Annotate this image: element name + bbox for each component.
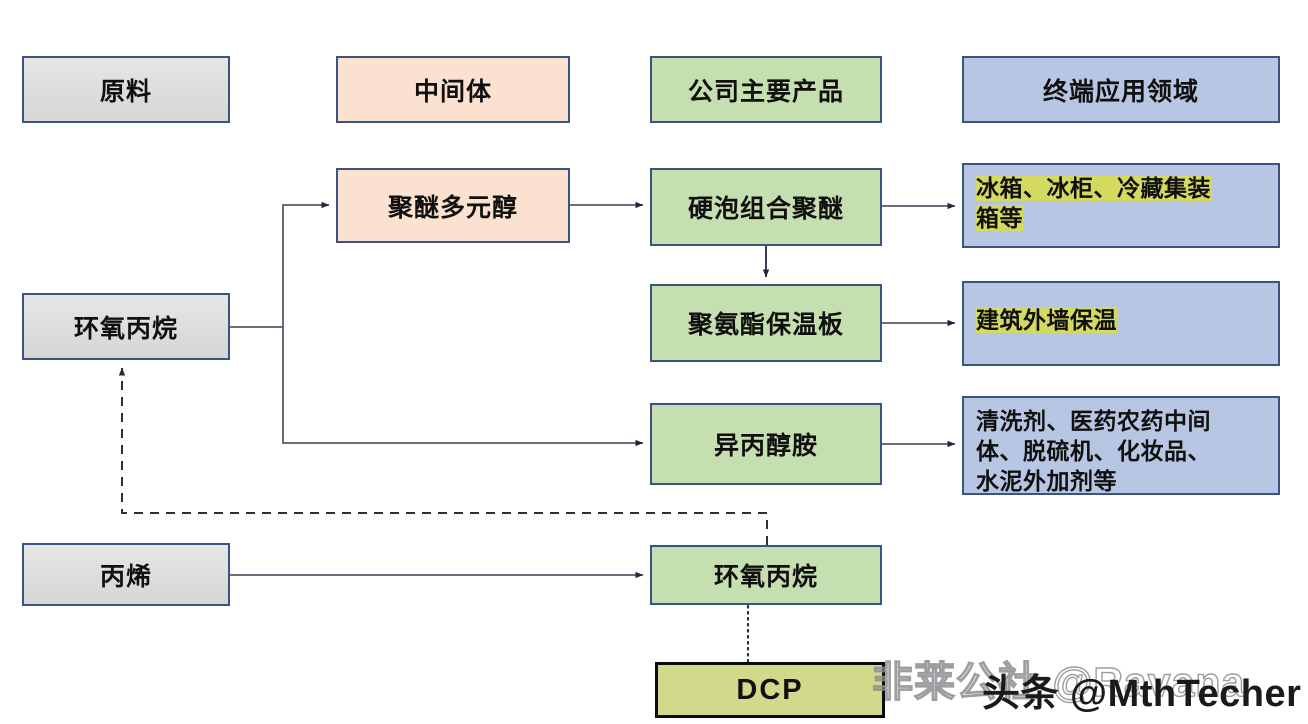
node-app-building-insulation[interactable]: 建筑外墙保温 [962, 281, 1280, 366]
node-propylene-oxide-raw-label: 环氧丙烷 [74, 309, 178, 345]
app-refrigeration-line-1: 冰箱、冰柜、冷藏集装 [976, 175, 1211, 201]
header-raw-label: 原料 [100, 72, 152, 108]
node-app-chemicals[interactable]: 清洗剂、医药农药中间 体、脱硫机、化妆品、 水泥外加剂等 [962, 396, 1280, 495]
app-refrigeration-line-2: 箱等 [976, 205, 1023, 231]
app-chemicals-text: 清洗剂、医药农药中间 体、脱硫机、化妆品、 水泥外加剂等 [976, 407, 1211, 497]
node-isopropanolamine-label: 异丙醇胺 [714, 426, 818, 462]
watermark-solid: 头条 @MthTecher [982, 662, 1301, 717]
app-refrigeration-text: 冰箱、冰柜、冷藏集装 箱等 [976, 174, 1211, 234]
edge-po-to-isopropanolamine [283, 327, 643, 443]
node-pu-insulation-board[interactable]: 聚氨酯保温板 [650, 284, 882, 362]
node-propylene-oxide-product-label: 环氧丙烷 [714, 557, 818, 593]
node-propylene[interactable]: 丙烯 [22, 543, 230, 606]
header-raw: 原料 [22, 56, 230, 123]
header-intermediate: 中间体 [336, 56, 570, 123]
app-chemicals-line-2: 体、脱硫机、化妆品、 [976, 438, 1211, 464]
watermark-outline: 非莱公社 @Ravana [872, 648, 1245, 708]
node-rigid-foam-polyether[interactable]: 硬泡组合聚醚 [650, 168, 882, 246]
header-intermediate-label: 中间体 [414, 72, 492, 108]
header-products-label: 公司主要产品 [688, 72, 844, 108]
node-propylene-oxide-raw[interactable]: 环氧丙烷 [22, 293, 230, 360]
header-products: 公司主要产品 [650, 56, 882, 123]
app-building-insulation-text: 建筑外墙保温 [976, 306, 1117, 336]
edge-po-to-polyether [283, 205, 329, 327]
app-building-insulation-line-1: 建筑外墙保温 [976, 307, 1117, 333]
header-applications: 终端应用领域 [962, 56, 1280, 123]
app-chemicals-line-1: 清洗剂、医药农药中间 [976, 408, 1211, 434]
header-applications-label: 终端应用领域 [1043, 72, 1199, 108]
node-rigid-foam-polyether-label: 硬泡组合聚醚 [688, 189, 844, 225]
node-dcp-label: DCP [736, 674, 803, 707]
app-chemicals-line-3: 水泥外加剂等 [976, 468, 1117, 494]
node-polyether-polyol-label: 聚醚多元醇 [388, 188, 518, 224]
node-pu-insulation-board-label: 聚氨酯保温板 [688, 305, 844, 341]
node-isopropanolamine[interactable]: 异丙醇胺 [650, 403, 882, 485]
node-dcp[interactable]: DCP [655, 662, 885, 718]
node-propylene-label: 丙烯 [100, 557, 152, 593]
diagram-canvas: 原料 中间体 公司主要产品 终端应用领域 环氧丙烷 丙烯 聚醚多元醇 硬泡组合聚… [0, 0, 1308, 724]
node-app-refrigeration[interactable]: 冰箱、冰柜、冷藏集装 箱等 [962, 163, 1280, 248]
node-propylene-oxide-product[interactable]: 环氧丙烷 [650, 545, 882, 605]
node-polyether-polyol[interactable]: 聚醚多元醇 [336, 168, 570, 243]
